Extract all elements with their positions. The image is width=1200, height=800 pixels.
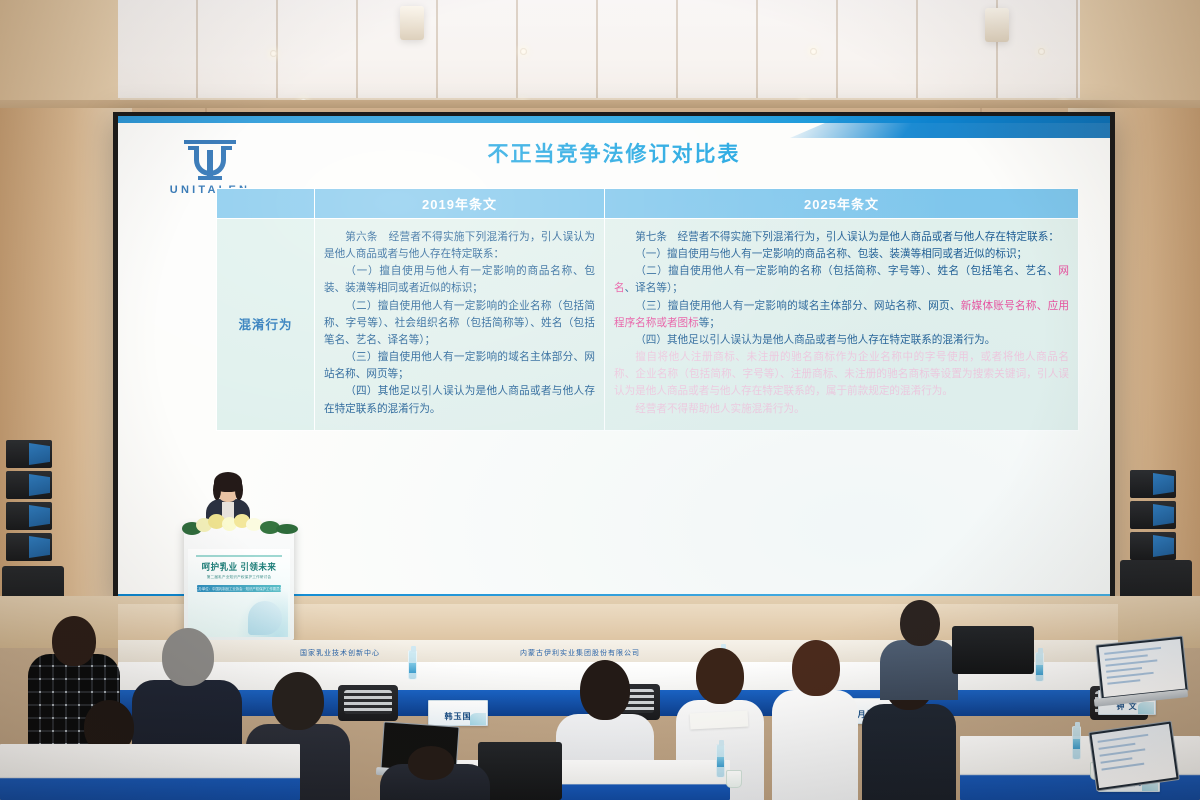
- podium-wave-graphic: [236, 589, 288, 637]
- table-header-blank: [217, 189, 315, 219]
- slide-top-accent: [790, 116, 1110, 138]
- downlight-icon: [810, 48, 817, 55]
- row-label-confusion: 混淆行为: [217, 219, 315, 431]
- water-bottle: [1072, 726, 1081, 760]
- water-bottle: [716, 744, 725, 778]
- left-line-array-speaker: [6, 440, 52, 564]
- clause-paragraph-faded: 擅自将他人注册商标、未注册的驰名商标作为企业名称中的字号使用，或者将他人商品名称…: [614, 349, 1069, 400]
- podium-banner-title: 呵护乳业 引领未来: [188, 561, 290, 574]
- front-left-table: [0, 744, 300, 800]
- audience-person: [772, 640, 858, 800]
- comparison-table: 2019年条文 2025年条文 混淆行为 第六条 经营者不得实施下列混淆行为，引…: [216, 188, 1079, 431]
- ceiling-panel: [118, 0, 1082, 98]
- clause-paragraph: （一）擅自使用与他人有一定影响的商品名称、包装、装潢等相同或者近似的标识；: [324, 263, 595, 297]
- clause-paragraph: （一）擅自使用与他人有一定影响的商品名称、包装、装潢等相同或者近似的标识；: [614, 246, 1069, 263]
- document-paper: [690, 710, 749, 729]
- wall-banner-text-2: 内蒙古伊利实业集团股份有限公司: [520, 648, 640, 658]
- clause-paragraph: （二）擅自使用他人有一定影响的名称（包括简称、字号等）、姓名（包括笔名、艺名、网…: [614, 263, 1069, 297]
- paper-cup: [726, 770, 742, 788]
- ceiling-edge-left: [0, 0, 120, 108]
- podium-flower-arrangement: [178, 512, 302, 538]
- right-line-array-speaker: [1130, 470, 1176, 563]
- clause-paragraph: （三）擅自使用他人有一定影响的域名主体部分、网站名称、网页等；: [324, 349, 595, 383]
- cell-2019-text: 第六条 经营者不得实施下列混淆行为，引人误认为是他人商品或者与他人存在特定联系：…: [315, 219, 605, 431]
- nameplate: 韩玉国: [428, 700, 488, 726]
- water-bottle: [408, 650, 417, 680]
- highlighted-amendment-text: 网名: [614, 265, 1069, 294]
- downlight-icon: [1038, 48, 1045, 55]
- ceiling: [0, 0, 1200, 108]
- water-bottle: [1035, 652, 1044, 682]
- clause-paragraph: 第六条 经营者不得实施下列混淆行为，引人误认为是他人商品或者与他人存在特定联系：: [324, 229, 595, 263]
- slide-title: 不正当竞争法修订对比表: [118, 138, 1110, 168]
- chair-back-slats: [344, 690, 392, 714]
- clause-paragraph: 第七条 经营者不得实施下列混淆行为，引人误认为是他人商品或者与他人存在特定联系：: [614, 229, 1069, 246]
- highlighted-amendment-text: 新媒体账号名称、应用程序名称或者图标: [614, 300, 1069, 329]
- audience-person: [380, 746, 490, 800]
- clause-paragraph: （三）擅自使用他人有一定影响的域名主体部分、网站名称、网页、新媒体账号名称、应用…: [614, 298, 1069, 332]
- conference-room-photo: UNITALEN 不正当竞争法修订对比表 2019年条文 2025年条文 混淆行…: [0, 0, 1200, 800]
- cell-2025-text: 第七条 经营者不得实施下列混淆行为，引人误认为是他人商品或者与他人存在特定联系：…: [605, 219, 1079, 431]
- table-header-2025: 2025年条文: [605, 189, 1079, 219]
- audience-person: [880, 600, 958, 690]
- monitor: [952, 626, 1034, 674]
- clause-paragraph: （四）其他足以引人误认为是他人商品或者与他人存在特定联系的混淆行为。: [324, 383, 595, 417]
- clause-paragraph: （四）其他足以引人误认为是他人商品或者与他人存在特定联系的混淆行为。: [614, 332, 1069, 349]
- clause-paragraph-faded: 经营者不得帮助他人实施混淆行为。: [614, 401, 1069, 418]
- podium: 呵护乳业 引领未来 第二届乳产业知识产权保护工作研讨会 主办单位：中国乳制品工业…: [184, 525, 294, 640]
- table-header-row: 2019年条文 2025年条文: [217, 189, 1079, 219]
- nameplate-text: 韩玉国: [429, 711, 487, 722]
- clause-paragraph: （二）擅自使用他人有一定影响的企业名称（包括简称、字号等）、社会组织名称（包括简…: [324, 298, 595, 349]
- monitor: [478, 742, 562, 800]
- ceiling-spotlight: [400, 6, 424, 40]
- ceiling-spotlight: [985, 8, 1009, 42]
- table-header-2019: 2019年条文: [315, 189, 605, 219]
- podium-banner-subtitle: 第二届乳产业知识产权保护工作研讨会: [188, 575, 290, 580]
- downlight-icon: [270, 50, 277, 57]
- ceiling-edge-right: [1080, 0, 1200, 108]
- table-row: 混淆行为 第六条 经营者不得实施下列混淆行为，引人误认为是他人商品或者与他人存在…: [217, 219, 1079, 431]
- laptop-screen[interactable]: [1088, 720, 1180, 791]
- downlight-icon: [520, 48, 527, 55]
- wall-banner-text-1: 国家乳业技术创新中心: [300, 648, 380, 658]
- podium-banner: 呵护乳业 引领未来 第二届乳产业知识产权保护工作研讨会 主办单位：中国乳制品工业…: [188, 549, 290, 637]
